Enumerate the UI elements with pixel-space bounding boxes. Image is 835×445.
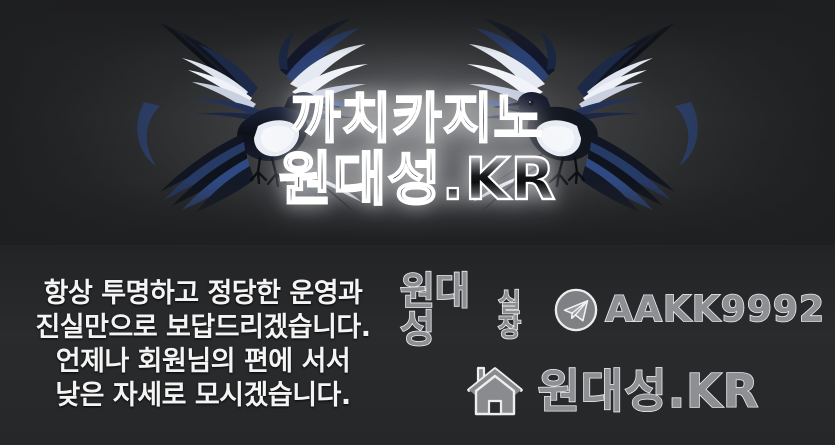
bottom-section: 항상 투명하고 정당한 운영과 진실만으로 보답드리겠습니다. 언제나 회원님의… [0, 245, 835, 445]
telegram-icon[interactable] [553, 287, 599, 333]
logo-wordmark: 까치카지노 원대성.KR [0, 92, 835, 208]
hero-section: 까치카지노 원대성.KR [0, 0, 835, 245]
logo-line-domain: 원대성.KR [0, 150, 835, 208]
slogan-line-2: 진실만으로 보답드리겠습니다. [6, 311, 400, 345]
logo-line-brand: 까치카지노 [0, 92, 835, 146]
telegram-handle[interactable]: AAKK9992 [605, 292, 825, 328]
contact-block: 원대성 실장 AAKK9992 [400, 272, 835, 418]
site-domain-row[interactable]: 원대성.KR [400, 364, 825, 418]
site-domain[interactable]: 원대성.KR [538, 368, 760, 414]
home-icon[interactable] [466, 364, 524, 418]
telegram-contact-row[interactable]: 원대성 실장 AAKK9992 [400, 272, 825, 348]
casino-promo-banner: 까치카지노 원대성.KR 항상 투명하고 정당한 운영과 진실만으로 보답드리겠… [0, 0, 835, 445]
manager-name: 원대성 [400, 272, 494, 348]
slogan-line-1: 항상 투명하고 정당한 운영과 [6, 277, 400, 311]
slogan-line-3: 언제나 회원님의 편에 서서 [6, 345, 400, 379]
slogan-line-4: 낮은 자세로 모시겠습니다. [6, 379, 400, 413]
slogan-block: 항상 투명하고 정당한 운영과 진실만으로 보답드리겠습니다. 언제나 회원님의… [0, 277, 400, 413]
manager-title: 실장 [498, 290, 539, 340]
